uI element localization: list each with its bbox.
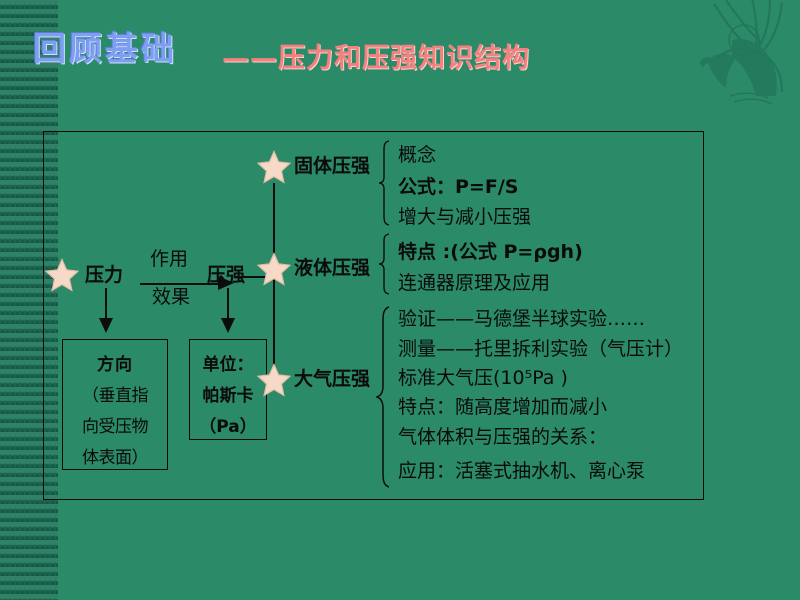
branch-label-atmospheric: 大气压强 [294, 370, 370, 389]
direction-box: 方向 （垂直指 向受压物 体表面） [62, 339, 168, 470]
connector-yali-to-direction [105, 288, 107, 322]
item-liquid-0: 特点 :(公式 P=ρgh) [398, 243, 583, 262]
star-bullet-liquid [257, 252, 291, 286]
arrow-label-top: 作用 [150, 250, 188, 269]
slide-canvas: 回顾基础 ——压力和压强知识结构 压力 作用 效果 压强 方向 （垂直指 向受压… [0, 0, 800, 600]
node-label-yali: 压力 [85, 266, 123, 285]
unit-box: 单位： 帕斯卡 （Pa） [189, 339, 267, 440]
item-atm-5: 应用：活塞式抽水机、离心泵 [398, 462, 645, 481]
item-atm-1: 测量——托里拆利实验（气压计） [398, 340, 683, 359]
star-bullet-solid [257, 150, 291, 184]
direction-box-line-1: 方向 [63, 350, 167, 375]
brace-solid [378, 140, 392, 226]
page-title: 回顾基础 [33, 32, 177, 65]
brace-atmospheric [376, 306, 392, 488]
unit-box-line-1: 单位： [190, 350, 266, 375]
item-atm-3: 特点：随高度增加而减小 [398, 398, 607, 417]
item-solid-1: 公式：P=F/S [398, 178, 518, 197]
connector-yaqiang-to-unit [227, 288, 229, 322]
item-atm-4: 气体体积与压强的关系： [398, 428, 607, 447]
branch-label-liquid: 液体压强 [294, 259, 370, 278]
item-liquid-1: 连通器原理及应用 [398, 274, 550, 293]
brace-liquid [378, 233, 392, 295]
branch-label-solid: 固体压强 [294, 157, 370, 176]
arrow-head-icon [98, 318, 114, 334]
direction-box-line-2: （垂直指 [63, 381, 167, 406]
direction-box-line-3: 向受压物 [63, 412, 167, 437]
star-bullet-atmospheric [257, 363, 291, 397]
item-solid-0: 概念 [398, 146, 436, 165]
page-subtitle: ——压力和压强知识结构 [222, 45, 530, 72]
phoenix-ornament-icon [686, 0, 798, 108]
item-atm-0: 验证——马德堡半球实验…… [398, 310, 645, 329]
item-atm-2: 标准大气压(10⁵Pa ) [398, 369, 568, 388]
star-bullet-root [45, 258, 79, 292]
unit-box-line-3: （Pa） [190, 412, 266, 437]
arrow-head-icon [220, 318, 236, 334]
arrow-label-bottom: 效果 [152, 288, 190, 307]
direction-box-line-4: 体表面） [63, 443, 167, 468]
item-solid-2: 增大与减小压强 [398, 208, 531, 227]
unit-box-line-2: 帕斯卡 [190, 381, 266, 406]
